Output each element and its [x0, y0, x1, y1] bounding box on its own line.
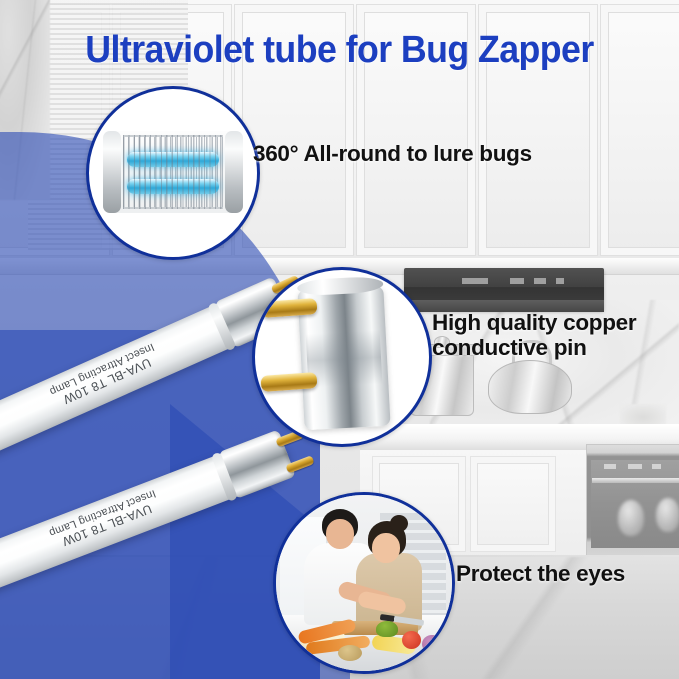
oven-reflection [656, 498, 679, 532]
lower-cabinet-door [470, 456, 556, 552]
counter-greens [620, 404, 666, 426]
vegetable [422, 635, 442, 653]
oven-control [628, 464, 642, 469]
callout-kitchen-scene [276, 495, 452, 671]
bug-zapper-unit [103, 131, 243, 213]
oven-control [604, 464, 616, 469]
callout-label-lure-bugs: 360° All-round to lure bugs [253, 141, 532, 166]
range-hood-control [462, 278, 488, 284]
callout-label-copper-pin-line2: conductive pin [432, 335, 636, 360]
callout-circle-copper-pin [252, 267, 432, 447]
product-infographic-poster: CE UVA-BL T8 10W Insect Attracting Lamp … [0, 0, 679, 679]
poster-title: Ultraviolet tube for Bug Zapper [20, 29, 658, 72]
woman-face [372, 533, 400, 563]
zapper-side-panel [225, 131, 243, 213]
oven-handle [592, 478, 679, 483]
range-hood-control [534, 278, 546, 284]
vegetable [402, 631, 421, 649]
oven-reflection [618, 500, 644, 536]
zapper-front-mesh [123, 135, 223, 209]
range-hood-control [556, 278, 564, 284]
callout-label-copper-pin-line1: High quality copper [432, 310, 636, 335]
kettle [488, 360, 572, 414]
man-face [326, 519, 354, 549]
callout-circle-bug-zapper [86, 86, 260, 260]
callout-label-copper-pin: High quality copper conductive pin [432, 310, 636, 360]
callout-circle-protect-eyes [273, 492, 455, 674]
zapper-side-panel [103, 131, 121, 213]
vegetable [376, 621, 398, 637]
range-hood-control [510, 278, 524, 284]
woman-hair-bun [390, 515, 408, 532]
vegetable [338, 645, 362, 661]
callout-label-protect-eyes: Protect the eyes [456, 561, 625, 586]
oven-control [652, 464, 661, 469]
